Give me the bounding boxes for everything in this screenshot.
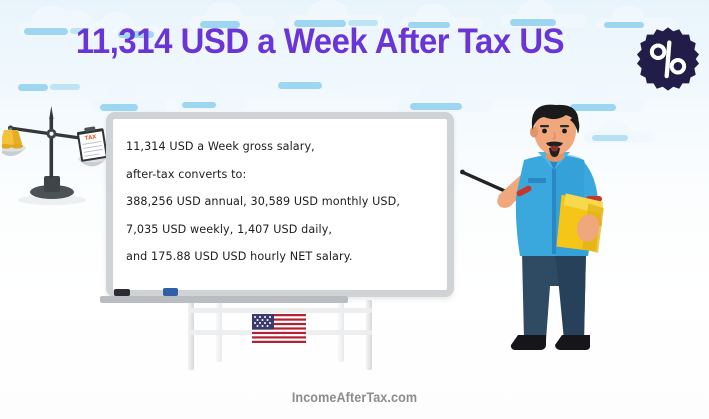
balance-scale-icon: TAX <box>2 106 108 206</box>
board-line-2: after-tax converts to: <box>126 161 437 189</box>
marker-icon <box>163 288 178 296</box>
cloud-icon <box>176 86 246 112</box>
banner-canvas: 11,314 USD a Week After Tax US <box>0 0 709 419</box>
board-line-1: 11,314 USD a Week gross salary, <box>126 133 437 161</box>
whiteboard-tray <box>100 296 348 303</box>
site-footer-label: IncomeAfterTax.com <box>35 389 673 405</box>
cloud-icon <box>14 66 86 94</box>
board-line-4: 7,035 USD weekly, 1,407 USD daily, <box>126 216 437 244</box>
percent-badge <box>635 26 701 92</box>
gold-coins-icon <box>2 130 23 149</box>
shoe-icon <box>511 335 590 350</box>
whiteboard-text-block: 11,314 USD a Week gross salary, after-ta… <box>126 133 437 271</box>
whiteboard: 11,314 USD a Week gross salary, after-ta… <box>106 112 454 297</box>
page-title: 11,314 USD a Week After Tax US <box>19 22 621 62</box>
whiteboard-stand <box>178 300 382 372</box>
teacher-figure <box>460 104 650 372</box>
board-line-5: and 175.88 USD USD hourly NET salary. <box>126 243 437 271</box>
us-flag-icon <box>252 314 306 343</box>
stand-crossbar-top <box>188 308 372 313</box>
tax-document-icon: TAX <box>76 125 108 162</box>
cloud-icon <box>268 64 352 92</box>
board-line-3: 388,256 USD annual, 30,589 USD monthly U… <box>126 188 437 216</box>
eraser-icon <box>114 289 130 296</box>
